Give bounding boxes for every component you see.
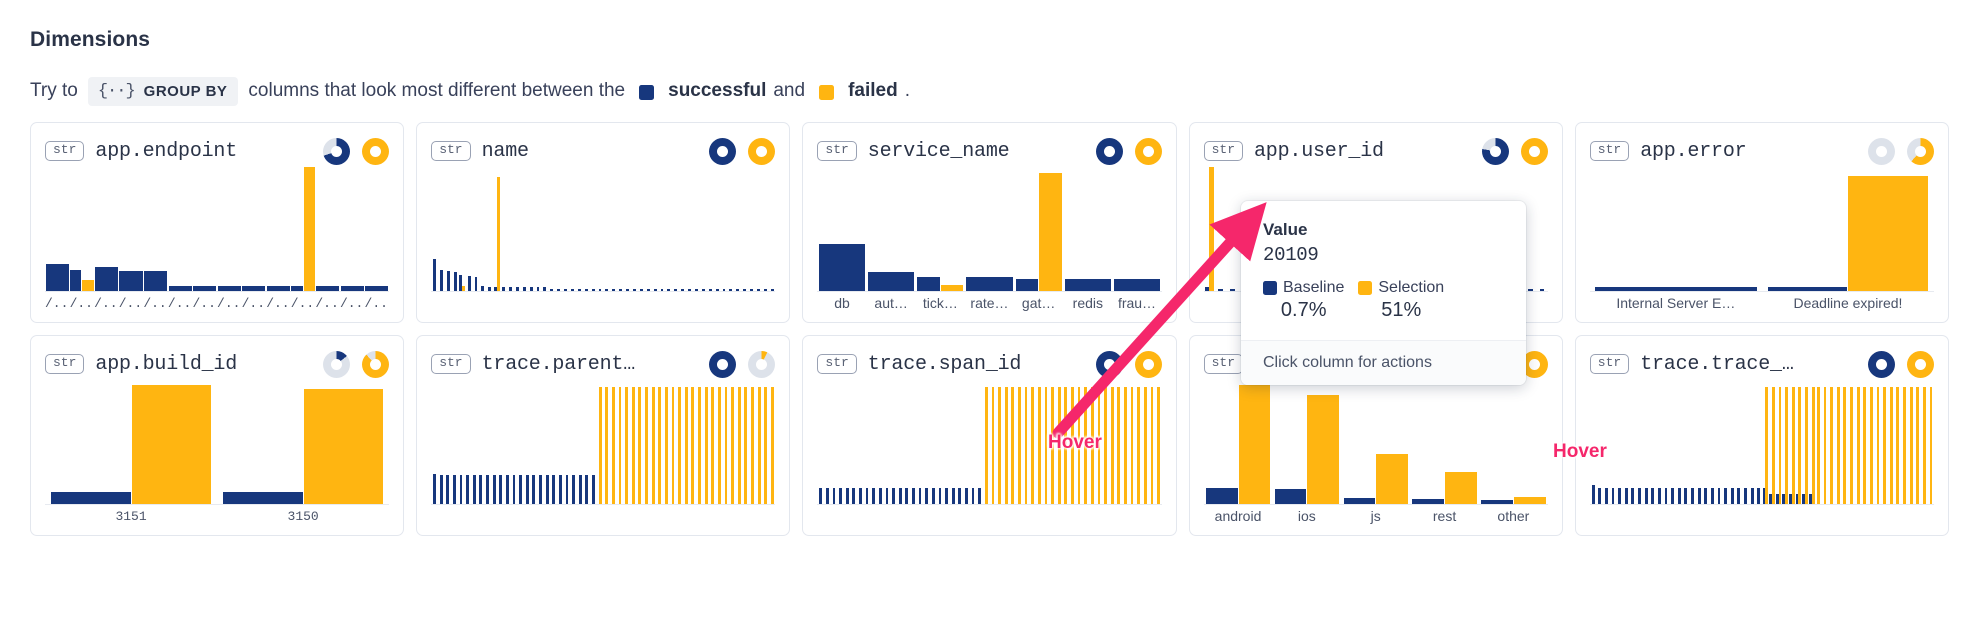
- bar-group[interactable]: [1663, 380, 1670, 504]
- bar-group[interactable]: [1828, 380, 1835, 504]
- bar-group[interactable]: [192, 167, 217, 291]
- bar-group[interactable]: [340, 167, 365, 291]
- bar-group[interactable]: [1769, 380, 1776, 504]
- bar-group[interactable]: [831, 380, 838, 504]
- bar-group[interactable]: [1122, 380, 1129, 504]
- bar-group[interactable]: [445, 167, 452, 291]
- bar-group[interactable]: [976, 380, 983, 504]
- bar-group[interactable]: [451, 380, 458, 504]
- bar-group[interactable]: [703, 380, 710, 504]
- bar-group[interactable]: [584, 380, 591, 504]
- bar-group[interactable]: [1736, 380, 1743, 504]
- bar-group[interactable]: [517, 380, 524, 504]
- bar-group[interactable]: [630, 380, 637, 504]
- bar-group[interactable]: [857, 380, 864, 504]
- bar-group[interactable]: [597, 380, 604, 504]
- bar-group[interactable]: [716, 380, 723, 504]
- bar-group[interactable]: [1689, 380, 1696, 504]
- bar-group[interactable]: [583, 167, 590, 291]
- bar-group[interactable]: [1479, 380, 1548, 504]
- chart-area[interactable]: androidiosjsrestother: [1204, 380, 1548, 527]
- selection-bar: [1923, 387, 1926, 504]
- bar-group[interactable]: [1135, 380, 1142, 504]
- bar-group[interactable]: [484, 380, 491, 504]
- bar-group[interactable]: [723, 380, 730, 504]
- dimension-card[interactable]: strtrace.parent…: [416, 335, 790, 536]
- bar-group[interactable]: [528, 167, 535, 291]
- bar-group[interactable]: [603, 380, 610, 504]
- bar-group[interactable]: [524, 380, 531, 504]
- bar-group[interactable]: [478, 380, 485, 504]
- bar-group[interactable]: [242, 167, 267, 291]
- bar-group[interactable]: [217, 167, 242, 291]
- bar-group[interactable]: [1702, 380, 1709, 504]
- bar-group[interactable]: [537, 380, 544, 504]
- bar-group[interactable]: [610, 167, 617, 291]
- bar-group[interactable]: [1215, 167, 1226, 291]
- bar-group[interactable]: [1901, 380, 1908, 504]
- bar-group[interactable]: [1341, 380, 1410, 504]
- bar-group[interactable]: [544, 380, 551, 504]
- baseline-bar: [1711, 488, 1714, 504]
- baseline-bar: [716, 289, 719, 291]
- chart-area[interactable]: dbaut…tick…rate…gat…redisfrau…: [817, 167, 1161, 314]
- bar-group[interactable]: [756, 380, 763, 504]
- bar-group[interactable]: [1616, 380, 1623, 504]
- bar-group[interactable]: [1749, 380, 1756, 504]
- bar-group[interactable]: [1623, 380, 1630, 504]
- bar-group[interactable]: [1109, 380, 1116, 504]
- axis-tick-label: /...: [94, 296, 119, 311]
- baseline-bar: [1344, 498, 1376, 504]
- bar-group[interactable]: [365, 167, 390, 291]
- bar-group[interactable]: [709, 380, 716, 504]
- baseline-bar: [952, 488, 955, 504]
- bar-group[interactable]: [1630, 380, 1637, 504]
- bar-group[interactable]: [1149, 380, 1156, 504]
- bar-group[interactable]: [637, 380, 644, 504]
- legend-swatch-successful-icon: [639, 85, 654, 100]
- bar-group[interactable]: [1129, 380, 1136, 504]
- x-axis: /.../.../.../.../.../.../.../.../.../...…: [45, 292, 389, 314]
- bar-group[interactable]: [683, 380, 690, 504]
- bar-group[interactable]: [597, 167, 604, 291]
- baseline-bar: [546, 475, 549, 504]
- bar-group[interactable]: [603, 167, 610, 291]
- bar-group[interactable]: [1610, 380, 1617, 504]
- donut-group: [323, 351, 389, 378]
- bar-group[interactable]: [965, 167, 1014, 291]
- bar-group[interactable]: [610, 380, 617, 504]
- bar-group[interactable]: [479, 167, 486, 291]
- bar-group[interactable]: [1789, 380, 1796, 504]
- bar-group[interactable]: [1762, 380, 1769, 504]
- bar-group[interactable]: [1742, 380, 1749, 504]
- bar-group[interactable]: [824, 380, 831, 504]
- selection-bar: [1104, 387, 1107, 504]
- selection-bar: [738, 387, 741, 504]
- bar-group[interactable]: [1669, 380, 1676, 504]
- bar-group[interactable]: [884, 380, 891, 504]
- chart-area[interactable]: [431, 167, 775, 314]
- bar-group[interactable]: [217, 380, 389, 504]
- bar-group[interactable]: [1525, 167, 1536, 291]
- bar-group[interactable]: [1762, 167, 1934, 291]
- bar-group[interactable]: [916, 167, 965, 291]
- dimension-card[interactable]: strname: [416, 122, 790, 323]
- bar-group[interactable]: [844, 380, 851, 504]
- bar-group[interactable]: [877, 380, 884, 504]
- bar-group[interactable]: [762, 167, 769, 291]
- bar-group[interactable]: [970, 380, 977, 504]
- chart-area[interactable]: [817, 380, 1161, 527]
- baseline-bar: [736, 289, 739, 291]
- bar-group[interactable]: [531, 380, 538, 504]
- dimension-card[interactable]: strservice_namedbaut…tick…rate…gat…redis…: [802, 122, 1176, 323]
- bar-group[interactable]: [769, 167, 776, 291]
- bar-group[interactable]: [507, 167, 514, 291]
- bar-group[interactable]: [1848, 380, 1855, 504]
- bar-group[interactable]: [659, 167, 666, 291]
- baseline-bar: [1481, 500, 1513, 504]
- bar-group[interactable]: [1142, 380, 1149, 504]
- bar-group[interactable]: [590, 167, 597, 291]
- selection-bar: [652, 387, 655, 504]
- bar-group[interactable]: [943, 380, 950, 504]
- bar-group[interactable]: [1272, 380, 1341, 504]
- bar-group[interactable]: [749, 380, 756, 504]
- bar-group[interactable]: [1802, 380, 1809, 504]
- bar-group[interactable]: [1227, 167, 1238, 291]
- bar-group[interactable]: [741, 167, 748, 291]
- bar-group[interactable]: [1921, 380, 1928, 504]
- selection-bar: [1903, 387, 1906, 504]
- axis-tick-label: db: [817, 295, 866, 311]
- selection-bar: [82, 280, 93, 291]
- bar-group[interactable]: [721, 167, 728, 291]
- bar-group[interactable]: [1709, 380, 1716, 504]
- bar-group[interactable]: [555, 167, 562, 291]
- bar-group[interactable]: [736, 380, 743, 504]
- baseline-bar: [447, 271, 450, 291]
- bar-group[interactable]: [1636, 380, 1643, 504]
- bar-group[interactable]: [548, 167, 555, 291]
- axis-tick-label: 3151: [45, 509, 217, 524]
- bar-group[interactable]: [755, 167, 762, 291]
- hint-middle: columns that look most different between…: [248, 80, 625, 102]
- card-header: strservice_name: [817, 135, 1161, 167]
- bar-group[interactable]: [1003, 380, 1010, 504]
- bar-group[interactable]: [700, 167, 707, 291]
- bar-group[interactable]: [1775, 380, 1782, 504]
- baseline-bar: [866, 488, 869, 504]
- selection-swatch-icon: [1358, 281, 1372, 295]
- bar-group[interactable]: [1861, 380, 1868, 504]
- bar-group[interactable]: [458, 380, 465, 504]
- bar-group[interactable]: [851, 380, 858, 504]
- bar-group[interactable]: [623, 380, 630, 504]
- bar-group[interactable]: [686, 167, 693, 291]
- baseline-bar: [169, 286, 192, 291]
- bar-group[interactable]: [650, 380, 657, 504]
- bar-group[interactable]: [1729, 380, 1736, 504]
- bar-group[interactable]: [1116, 380, 1123, 504]
- bar-group[interactable]: [1696, 380, 1703, 504]
- bar-group[interactable]: [266, 167, 291, 291]
- bar-chart: [1204, 380, 1548, 505]
- bar-group[interactable]: [1835, 380, 1842, 504]
- bar-group[interactable]: [957, 380, 964, 504]
- tooltip-selection-col: Selection 51%: [1358, 279, 1444, 322]
- dimension-card[interactable]: strtrace.trace_…: [1575, 335, 1949, 536]
- dimension-card[interactable]: strapp.endpoint/.../.../.../.../.../.../…: [30, 122, 404, 323]
- bar-group[interactable]: [1155, 380, 1162, 504]
- bar-group[interactable]: [624, 167, 631, 291]
- bar-group[interactable]: [631, 167, 638, 291]
- bar-group[interactable]: [663, 380, 670, 504]
- card-header: strapp.endpoint: [45, 135, 389, 167]
- bar-group[interactable]: [119, 167, 144, 291]
- dimension-card[interactable]: strtrace.span_id: [802, 335, 1176, 536]
- bar-group[interactable]: [564, 380, 571, 504]
- bar-group[interactable]: [950, 380, 957, 504]
- bar-group[interactable]: [1795, 380, 1802, 504]
- chart-area[interactable]: 31513150: [45, 380, 389, 527]
- bar-group[interactable]: [1881, 380, 1888, 504]
- bar-group[interactable]: [576, 167, 583, 291]
- bar-group[interactable]: [94, 167, 119, 291]
- bar-group[interactable]: [1204, 380, 1273, 504]
- bar-group[interactable]: [1683, 380, 1690, 504]
- bar-group[interactable]: [315, 167, 340, 291]
- legend-swatch-failed-icon: [819, 85, 834, 100]
- bar-group[interactable]: [521, 167, 528, 291]
- chart-area[interactable]: [431, 380, 775, 527]
- bar-group[interactable]: [1928, 380, 1935, 504]
- bar-group[interactable]: [1010, 380, 1017, 504]
- bar-group[interactable]: [690, 380, 697, 504]
- bar-group[interactable]: [693, 167, 700, 291]
- bar-group[interactable]: [904, 380, 911, 504]
- bar-group[interactable]: [983, 380, 990, 504]
- bar-group[interactable]: [727, 167, 734, 291]
- bar-group[interactable]: [638, 167, 645, 291]
- bar-group[interactable]: [672, 167, 679, 291]
- bar-group[interactable]: [1822, 380, 1829, 504]
- bar-group[interactable]: [645, 167, 652, 291]
- bar-group[interactable]: [1023, 380, 1030, 504]
- value-tooltip: Value 20109 Baseline 0.7% Selection 51%: [1241, 201, 1526, 385]
- bar-group[interactable]: [762, 380, 769, 504]
- baseline-bar: [557, 289, 560, 291]
- chart-area[interactable]: /.../.../.../.../.../.../.../.../.../...…: [45, 167, 389, 314]
- bar-group[interactable]: [550, 380, 557, 504]
- selection-bar: [1111, 387, 1114, 504]
- bar-group[interactable]: [444, 380, 451, 504]
- bar-group[interactable]: [491, 380, 498, 504]
- bar-group[interactable]: [696, 380, 703, 504]
- bar-group[interactable]: [990, 380, 997, 504]
- bar-group[interactable]: [1676, 380, 1683, 504]
- bar-group[interactable]: [464, 380, 471, 504]
- bar-group[interactable]: [143, 167, 168, 291]
- bar-group[interactable]: [438, 380, 445, 504]
- bar-group[interactable]: [45, 380, 217, 504]
- bar-group[interactable]: [1649, 380, 1656, 504]
- group-by-button[interactable]: {··} GROUP BY: [88, 77, 239, 106]
- axis-tick-label: /...: [365, 296, 390, 311]
- bar-group[interactable]: [734, 167, 741, 291]
- dimension-card[interactable]: strapp.build_id31513150: [30, 335, 404, 536]
- bar-group[interactable]: [569, 167, 576, 291]
- bar-group[interactable]: [910, 380, 917, 504]
- bar-group[interactable]: [590, 380, 597, 504]
- bar-group[interactable]: [1895, 380, 1902, 504]
- baseline-bar: [1528, 289, 1533, 291]
- selection-bar: [665, 387, 668, 504]
- bar-group[interactable]: [743, 380, 750, 504]
- bar-group[interactable]: [431, 167, 438, 291]
- baseline-bar: [579, 475, 582, 504]
- bar-group[interactable]: [870, 380, 877, 504]
- bar-group[interactable]: [504, 380, 511, 504]
- bar-group[interactable]: [1016, 380, 1023, 504]
- bar-group[interactable]: [1722, 380, 1729, 504]
- bar-group[interactable]: [70, 167, 95, 291]
- bar-group[interactable]: [438, 167, 445, 291]
- baseline-bar: [819, 244, 865, 291]
- bar-group[interactable]: [1914, 380, 1921, 504]
- bar-group[interactable]: [1102, 380, 1109, 504]
- bar-group[interactable]: [459, 167, 466, 291]
- bar-group[interactable]: [817, 380, 824, 504]
- baseline-donut-icon: [1868, 351, 1895, 378]
- bar-group[interactable]: [1755, 380, 1762, 504]
- column-type-badge: str: [1590, 354, 1629, 373]
- bar-group[interactable]: [817, 167, 866, 291]
- axis-tick-label: js: [1341, 508, 1410, 524]
- baseline-bar: [1658, 488, 1661, 504]
- bar-group[interactable]: [923, 380, 930, 504]
- bar-group[interactable]: [748, 167, 755, 291]
- bar-group[interactable]: [917, 380, 924, 504]
- bar-group[interactable]: [617, 380, 624, 504]
- bar-group[interactable]: [541, 167, 548, 291]
- selection-bar: [1445, 472, 1477, 504]
- bar-group[interactable]: [679, 167, 686, 291]
- bar-group[interactable]: [937, 380, 944, 504]
- bar-group[interactable]: [867, 167, 916, 291]
- bar-group[interactable]: [1875, 380, 1882, 504]
- bar-group[interactable]: [643, 380, 650, 504]
- bar-group[interactable]: [729, 380, 736, 504]
- bar-group[interactable]: [769, 380, 776, 504]
- selection-donut-icon: [748, 351, 775, 378]
- bar-group[interactable]: [486, 167, 493, 291]
- bar-group[interactable]: [473, 167, 480, 291]
- bar-group[interactable]: [1888, 380, 1895, 504]
- bar-group[interactable]: [1716, 380, 1723, 504]
- bar-group[interactable]: [676, 380, 683, 504]
- chart-area[interactable]: [1590, 380, 1934, 527]
- bar-group[interactable]: [452, 167, 459, 291]
- bar-group[interactable]: [897, 380, 904, 504]
- bar-group[interactable]: [168, 167, 193, 291]
- donut-group: [1482, 138, 1548, 165]
- bar-group[interactable]: [471, 380, 478, 504]
- baseline-bar: [1114, 279, 1160, 291]
- bar-group[interactable]: [1536, 167, 1547, 291]
- bar-group[interactable]: [514, 167, 521, 291]
- bar-group[interactable]: [1782, 380, 1789, 504]
- selection-bar: [941, 285, 964, 291]
- bar-group[interactable]: [493, 167, 500, 291]
- bar-group[interactable]: [1643, 380, 1650, 504]
- bar-group[interactable]: [562, 167, 569, 291]
- bar-group[interactable]: [930, 380, 937, 504]
- bar-group[interactable]: [665, 167, 672, 291]
- bar-group[interactable]: [466, 167, 473, 291]
- bar-group[interactable]: [714, 167, 721, 291]
- bar-group[interactable]: [511, 380, 518, 504]
- bar-group[interactable]: [837, 380, 844, 504]
- bar-group[interactable]: [652, 167, 659, 291]
- bar-group[interactable]: [500, 167, 507, 291]
- bar-group[interactable]: [1868, 380, 1875, 504]
- bar-group[interactable]: [1112, 167, 1161, 291]
- selection-bar: [1514, 497, 1546, 504]
- bar-group[interactable]: [963, 380, 970, 504]
- bar-group[interactable]: [1815, 380, 1822, 504]
- bar-group[interactable]: [1590, 167, 1762, 291]
- donut-group: [1868, 351, 1934, 378]
- bar-group[interactable]: [1656, 380, 1663, 504]
- bar-group[interactable]: [996, 380, 1003, 504]
- chart-area[interactable]: Internal Server E…Deadline expired!: [1590, 167, 1934, 314]
- bar-group[interactable]: [431, 380, 438, 504]
- bar-group[interactable]: [1029, 380, 1036, 504]
- dimension-card[interactable]: strapp.errorInternal Server E…Deadline e…: [1575, 122, 1949, 323]
- bar-group[interactable]: [670, 380, 677, 504]
- bar-group[interactable]: [656, 380, 663, 504]
- bar-group[interactable]: [45, 167, 70, 291]
- bar-group[interactable]: [497, 380, 504, 504]
- bar-group[interactable]: [890, 380, 897, 504]
- baseline-bar: [223, 492, 302, 504]
- bar-group[interactable]: [1410, 380, 1479, 504]
- bar-group[interactable]: [557, 380, 564, 504]
- bar-group[interactable]: [1063, 167, 1112, 291]
- bar-group[interactable]: [1842, 380, 1849, 504]
- bar-group[interactable]: [1808, 380, 1815, 504]
- baseline-bar: [316, 286, 339, 291]
- bar-group[interactable]: [1036, 380, 1043, 504]
- bar-group[interactable]: [707, 167, 714, 291]
- bar-group[interactable]: [535, 167, 542, 291]
- selection-bar: [718, 387, 721, 504]
- bar-group[interactable]: [570, 380, 577, 504]
- bar-group[interactable]: [1855, 380, 1862, 504]
- bar-group[interactable]: [291, 167, 316, 291]
- bar-group[interactable]: [1204, 167, 1215, 291]
- bar-group[interactable]: [1014, 167, 1063, 291]
- bar-group[interactable]: [864, 380, 871, 504]
- baseline-bar: [466, 475, 469, 504]
- bar-group[interactable]: [577, 380, 584, 504]
- bar-group[interactable]: [617, 167, 624, 291]
- bar-group[interactable]: [1908, 380, 1915, 504]
- baseline-bar: [564, 289, 567, 291]
